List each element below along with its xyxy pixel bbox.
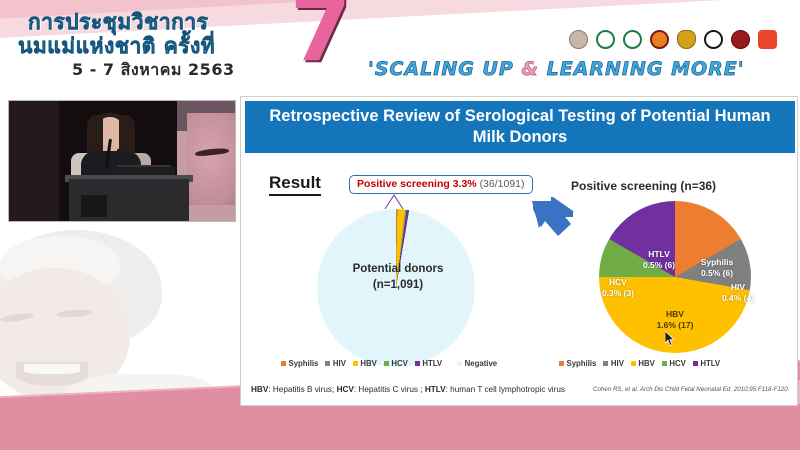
legend2-swatch-syphilis xyxy=(559,361,564,366)
logo-princess-emblem-icon xyxy=(566,26,590,53)
conference-header: การประชุมวิชาการ นมแม่แห่งชาติ ครั้งที่ … xyxy=(0,0,800,96)
legend-swatch-htlv xyxy=(415,361,420,366)
logo-ministry-public-health-icon xyxy=(593,26,617,53)
slice-hbv-value: 1.6% (17) xyxy=(657,320,694,330)
footnote-hbv-value: : Hepatitis B virus; xyxy=(268,385,336,394)
legend-item-hiv: HIV xyxy=(325,359,346,368)
video-wall-left xyxy=(9,101,59,222)
podium-panel xyxy=(81,195,107,217)
result-heading: Result xyxy=(269,173,321,196)
legend2-item-hbv: HBV xyxy=(631,359,655,368)
conference-tagline: 'SCALING UP & LEARNING MORE' xyxy=(368,58,745,80)
slice-syphilis-value: 0.5% (6) xyxy=(701,268,733,278)
speaker-video-panel[interactable] xyxy=(8,100,236,222)
tagline-part2: LEARNING MORE' xyxy=(539,58,745,80)
slice-hbv-name: HBV xyxy=(666,309,684,319)
logo-royal-emblem-orange-icon xyxy=(647,26,671,53)
baby-teeth xyxy=(24,364,80,374)
legend-swatch-hiv xyxy=(325,361,330,366)
sponsor-logo-row xyxy=(566,26,779,53)
legend-label-syphilis: Syphilis xyxy=(289,359,319,368)
legend-label-negative: Negative xyxy=(465,359,498,368)
legend-item-hbv: HBV xyxy=(353,359,377,368)
mouse-cursor xyxy=(665,331,676,347)
legend-item-htlv: HTLV xyxy=(415,359,442,368)
legend2-swatch-hbv xyxy=(631,361,636,366)
legend2-item-syphilis: Syphilis xyxy=(559,359,596,368)
legend-label-hbv: HBV xyxy=(360,359,376,368)
potential-donors-subtitle: (n=1,091) xyxy=(303,277,493,293)
legend2-label-hcv: HCV xyxy=(669,359,685,368)
slice-htlv-name: HTLV xyxy=(648,249,670,259)
logo-royal-crest-icon xyxy=(674,26,698,53)
slice-syphilis-name: Syphilis xyxy=(701,257,734,267)
footnote-htlv-value: : human T cell lymphotropic virus xyxy=(446,385,565,394)
blue-arrow-icon xyxy=(531,197,575,237)
legend-swatch-negative xyxy=(457,361,462,366)
legend-potential-donors: Syphilis HIV HBV HCV HTLV Negative xyxy=(281,359,497,368)
legend2-label-syphilis: Syphilis xyxy=(567,359,597,368)
slice-hcv-name: HCV xyxy=(609,277,627,287)
legend2-label-htlv: HTLV xyxy=(700,359,720,368)
legend-swatch-syphilis xyxy=(281,361,286,366)
legend2-label-hiv: HIV xyxy=(611,359,624,368)
logo-black-emblem-icon xyxy=(701,26,725,53)
conference-edition-number: 7 xyxy=(290,0,351,74)
slice-hiv-name: HIV xyxy=(731,282,745,292)
legend-swatch-hbv xyxy=(353,361,358,366)
callout-subtext: (36/1091) xyxy=(480,178,525,190)
positive-screening-title: Positive screening (n=36) xyxy=(571,179,716,193)
legend-item-syphilis: Syphilis xyxy=(281,359,318,368)
slice-label-htlv: HTLV 0.5% (6) xyxy=(625,249,693,271)
legend-label-htlv: HTLV xyxy=(422,359,442,368)
potential-donors-chart: Potential donors (n=1,091) xyxy=(303,201,493,373)
slice-label-syphilis: Syphilis 0.5% (6) xyxy=(685,257,749,279)
slice-label-hbv: HBV 1.6% (17) xyxy=(645,309,705,331)
logo-red-garuda-icon xyxy=(728,26,752,53)
potential-donors-label: Potential donors (n=1,091) xyxy=(303,261,493,293)
potential-donors-title: Potential donors xyxy=(303,261,493,277)
footnote-hcv-value: : Hepatitis C virus ; xyxy=(354,385,425,394)
legend2-swatch-htlv xyxy=(693,361,698,366)
footnote-hbv-key: HBV xyxy=(251,385,268,394)
tagline-ampersand: & xyxy=(521,58,539,80)
source-citation: Cohen RS, et al. Arch Dis Child Fetal Ne… xyxy=(593,386,789,393)
legend-positive-screening: Syphilis HIV HBV HCV HTLV xyxy=(559,359,720,368)
callout-highlight: Positive screening 3.3% xyxy=(357,178,477,190)
tagline-part1: 'SCALING UP xyxy=(368,58,521,80)
slice-label-hiv: HIV 0.4% (4) xyxy=(711,282,765,304)
slice-hcv-value: 0.3% (3) xyxy=(602,288,634,298)
legend-item-hcv: HCV xyxy=(384,359,408,368)
slice-hiv-value: 0.4% (4) xyxy=(722,293,754,303)
conference-date: 5 - 7 สิงหาคม 2563 xyxy=(72,58,235,83)
legend-label-hiv: HIV xyxy=(333,359,346,368)
slice-htlv-value: 0.5% (6) xyxy=(643,260,675,270)
legend2-swatch-hiv xyxy=(603,361,608,366)
legend2-label-hbv: HBV xyxy=(638,359,654,368)
legend-swatch-hcv xyxy=(384,361,389,366)
footnote-htlv-key: HTLV xyxy=(425,385,446,394)
slide-title: Retrospective Review of Serological Test… xyxy=(245,101,795,153)
slice-label-hcv: HCV 0.3% (3) xyxy=(593,277,643,299)
legend2-item-hiv: HIV xyxy=(603,359,624,368)
positive-screening-callout: Positive screening 3.3% (36/1091) xyxy=(349,175,533,194)
screenshot-stage: การประชุมวิชาการ นมแม่แห่งชาติ ครั้งที่ … xyxy=(0,0,800,450)
logo-thaihealth-sss-icon xyxy=(755,26,779,53)
legend-label-hcv: HCV xyxy=(391,359,407,368)
legend2-item-hcv: HCV xyxy=(662,359,686,368)
logo-department-health-icon xyxy=(620,26,644,53)
video-overlay-face xyxy=(187,113,236,205)
legend-item-negative: Negative xyxy=(457,359,497,368)
legend2-swatch-hcv xyxy=(662,361,667,366)
footnote-hcv-key: HCV xyxy=(337,385,354,394)
presentation-slide: Retrospective Review of Serological Test… xyxy=(240,96,798,406)
legend2-item-htlv: HTLV xyxy=(693,359,720,368)
